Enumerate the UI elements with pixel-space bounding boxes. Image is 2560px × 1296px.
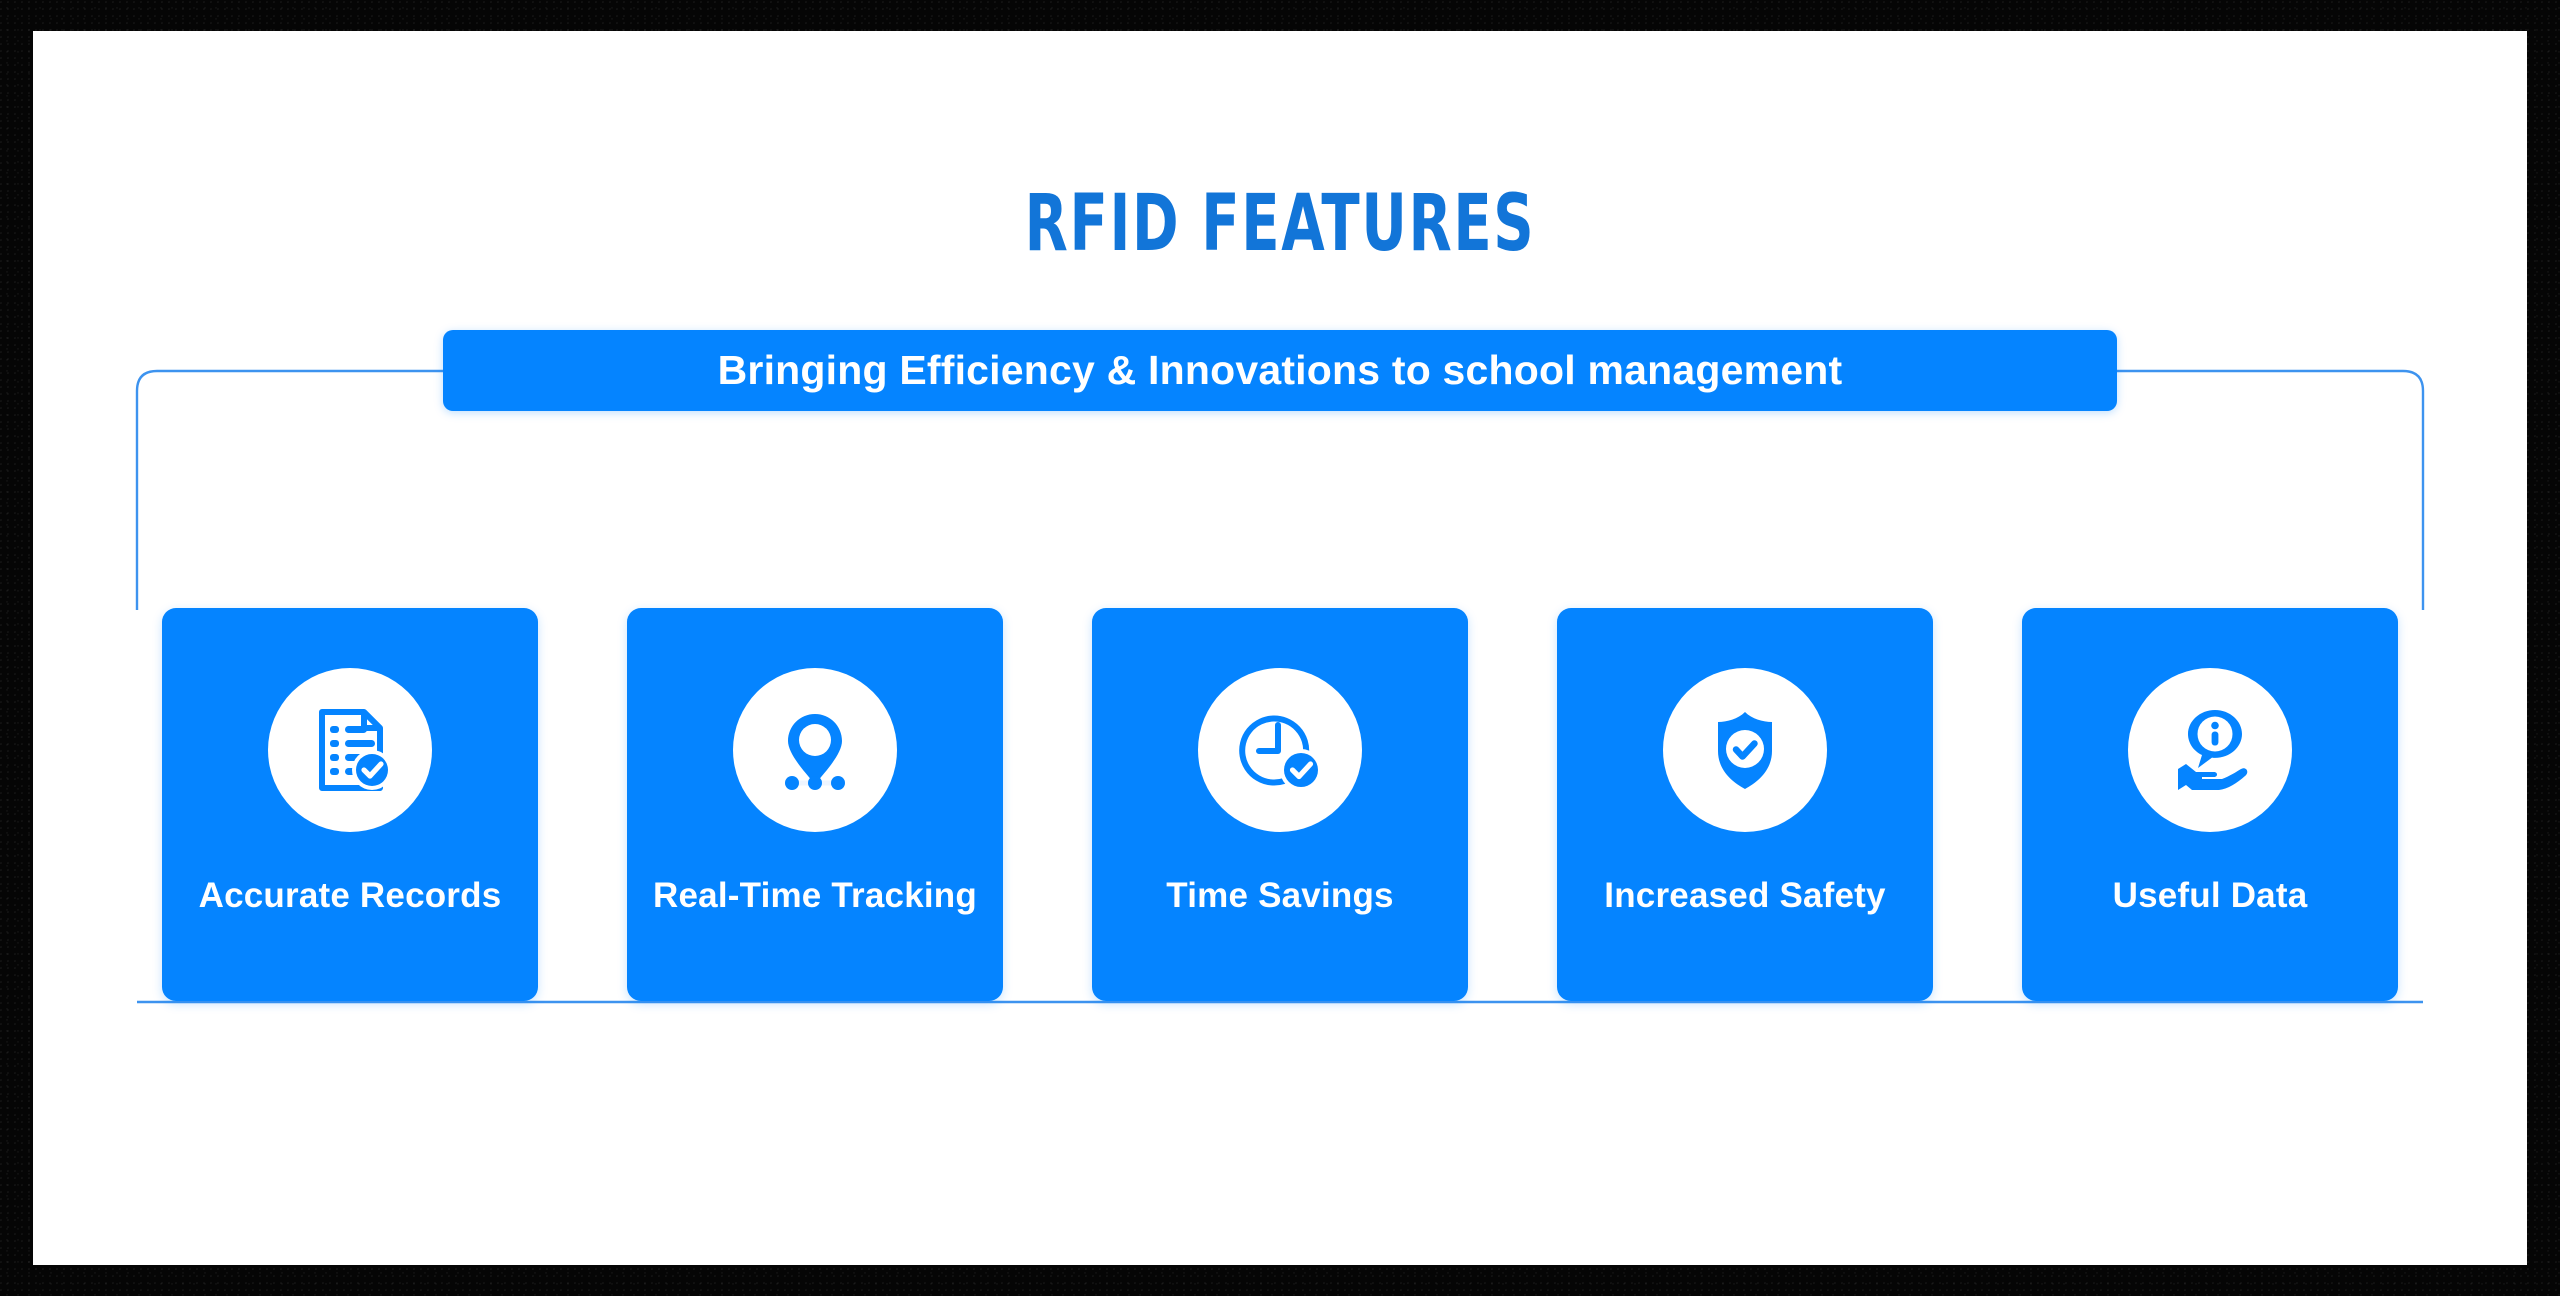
map-pin-route-icon [767, 702, 863, 798]
subtitle-banner: Bringing Efficiency & Innovations to sch… [443, 330, 2117, 411]
subtitle-text: Bringing Efficiency & Innovations to sch… [718, 347, 1843, 394]
document-checklist-check-icon [302, 702, 398, 798]
feature-card-label: Time Savings [1166, 876, 1393, 916]
outer-frame: RFID FEATURES Bringing Efficiency & Inno… [0, 0, 2560, 1296]
icon-badge [268, 668, 432, 832]
infographic-canvas: RFID FEATURES Bringing Efficiency & Inno… [33, 31, 2527, 1265]
icon-badge [733, 668, 897, 832]
right-connector [2117, 371, 2423, 610]
page-title: RFID FEATURES [282, 179, 2277, 269]
shield-check-icon [1697, 702, 1793, 798]
hand-info-bubble-icon [2162, 702, 2258, 798]
feature-card-label: Increased Safety [1604, 876, 1885, 916]
feature-card-label: Accurate Records [199, 876, 502, 916]
feature-card-time-savings[interactable]: Time Savings [1092, 608, 1468, 1001]
clock-check-icon [1232, 702, 1328, 798]
icon-badge [1198, 668, 1362, 832]
icon-badge [2128, 668, 2292, 832]
feature-card-label: Real-Time Tracking [653, 876, 977, 916]
feature-card-increased-safety[interactable]: Increased Safety [1557, 608, 1933, 1001]
feature-card-useful-data[interactable]: Useful Data [2022, 608, 2398, 1001]
feature-card-real-time-tracking[interactable]: Real-Time Tracking [627, 608, 1003, 1001]
feature-card-accurate-records[interactable]: Accurate Records [162, 608, 538, 1001]
feature-card-label: Useful Data [2113, 876, 2308, 916]
icon-badge [1663, 668, 1827, 832]
left-connector [137, 371, 443, 610]
feature-card-row: Accurate Records [162, 608, 2398, 1001]
